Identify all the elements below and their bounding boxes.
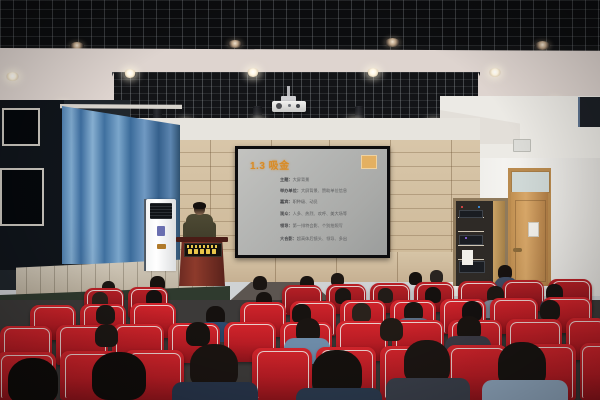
projector-vent <box>296 104 300 108</box>
air-conditioner-display <box>157 226 165 236</box>
seat[interactable] <box>580 343 600 400</box>
alcove-notice <box>462 250 473 265</box>
booth-window <box>0 168 44 226</box>
audience-head <box>8 358 58 400</box>
downlight <box>6 72 19 81</box>
downlight <box>489 68 501 77</box>
audience-torso <box>482 380 568 400</box>
ceiling-top-band <box>0 0 600 46</box>
audience-torso <box>172 382 258 400</box>
audience-head <box>352 303 371 322</box>
audience-head <box>253 276 267 290</box>
projection-screen: 1.3 吸金 主题：大屏背景 举办单位：大屏背景、赞助单位信息 嘉宾：职种级、动… <box>238 149 387 255</box>
slide-line: 主题：大屏背景 <box>280 177 309 183</box>
slide-marker-box <box>361 155 377 169</box>
projector-vent <box>288 104 291 107</box>
podium-top <box>176 237 228 242</box>
rack-unit <box>459 235 483 245</box>
monitor-icon <box>578 97 600 127</box>
lecture-hall-photo: 1.3 吸金 主题：大屏背景 举办单位：大屏背景、赞助单位信息 嘉宾：职种级、动… <box>0 0 600 400</box>
slide-line: 观众：人多、热烈、欢呼、美大场等 <box>280 211 347 217</box>
air-conditioner-vent <box>150 203 172 219</box>
rack-led <box>478 206 480 208</box>
door-transom-window <box>511 171 550 193</box>
audience-head <box>92 352 146 400</box>
slide-line: 领导：第一排特会影、个别拍照写 <box>280 223 343 229</box>
speaker-hair <box>193 202 206 209</box>
curtain-rail <box>60 104 182 109</box>
audience-head <box>540 300 560 320</box>
slide-title: 1.3 吸金 <box>250 157 290 172</box>
booth-window <box>2 108 40 146</box>
air-conditioner-badge <box>157 244 166 249</box>
audience-head <box>95 324 118 347</box>
projector-lens <box>276 103 282 109</box>
audience-head <box>96 305 115 324</box>
audience-head <box>186 322 210 346</box>
slide-line: 大合影：超高体后镜头、领导、多出 <box>280 236 347 242</box>
ceiling-can-light <box>228 40 242 48</box>
downlight <box>124 69 136 78</box>
downlight <box>367 68 379 77</box>
audience-head <box>380 318 403 341</box>
ceiling-grid-top <box>0 0 600 46</box>
podium-sign-text <box>187 245 219 248</box>
audience-torso <box>386 378 470 400</box>
control-booth <box>0 100 64 270</box>
audience-torso <box>296 388 382 400</box>
slide-line: 举办单位：大屏背景、赞助单位信息 <box>280 188 347 194</box>
rack-led <box>461 206 463 208</box>
rack-led <box>465 237 467 239</box>
podium-sign <box>184 243 222 257</box>
ceiling-recess <box>112 72 480 120</box>
ceiling-can-light <box>535 41 550 50</box>
exit-sign <box>513 139 531 152</box>
slide-line: 嘉宾：职种级、动员 <box>280 199 318 205</box>
projector <box>272 101 306 112</box>
downlight <box>247 68 259 77</box>
door-notice <box>528 222 539 237</box>
door-handle[interactable] <box>513 248 522 252</box>
door-panel <box>515 200 546 282</box>
rack-unit <box>459 210 483 218</box>
ceiling-grid-inner <box>112 72 480 120</box>
ceiling-can-light <box>385 38 400 47</box>
